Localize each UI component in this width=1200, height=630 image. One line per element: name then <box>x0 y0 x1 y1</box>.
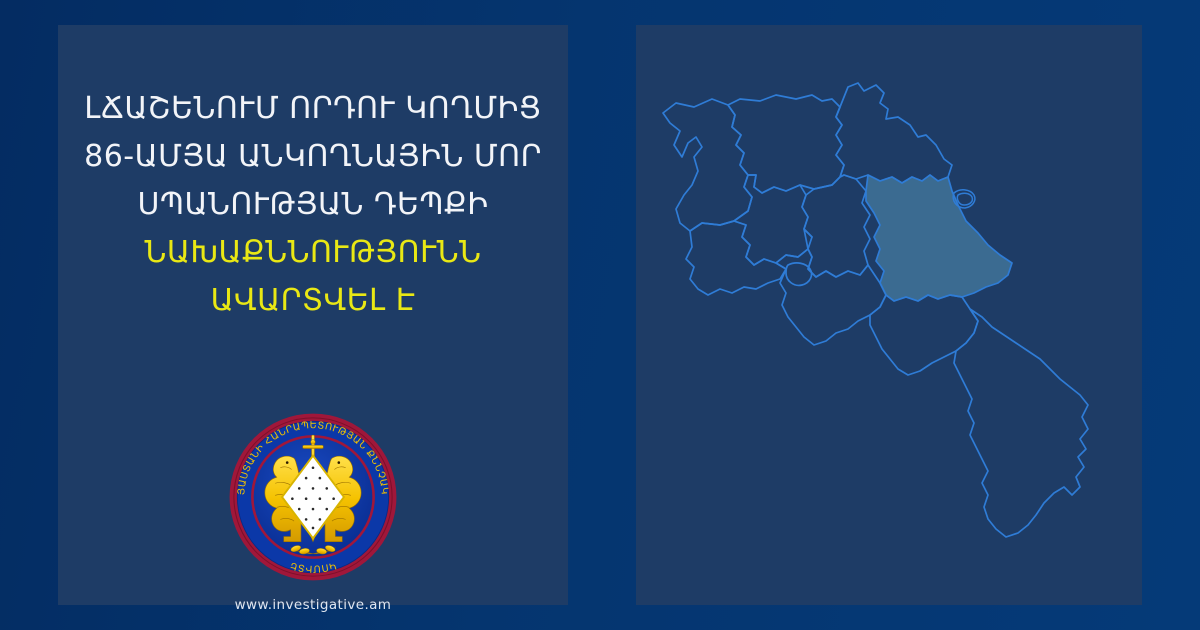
headline-block: ԼՃԱՇԵՆՈՒՄ ՈՐԴՈՒ ԿՈՂՄԻՑ 86-ԱՄՅԱ ԱՆԿՈՂՆԱՅԻ… <box>74 85 552 325</box>
map-region-tavush[interactable] <box>836 83 952 183</box>
map-region-yerevan[interactable] <box>786 263 812 285</box>
text-panel: ԼՃԱՇԵՆՈՒՄ ՈՐԴՈՒ ԿՈՂՄԻՑ 86-ԱՄՅԱ ԱՆԿՈՂՆԱՅԻ… <box>58 25 568 605</box>
map-panel <box>636 25 1142 605</box>
armenia-map[interactable] <box>636 25 1142 605</box>
map-lake-sevan <box>953 190 975 208</box>
map-region-vayots-dzor[interactable] <box>870 295 978 375</box>
map-region-gegharkunik[interactable] <box>866 175 1012 301</box>
map-region-armavir[interactable] <box>686 221 786 295</box>
headline-line-4: ՆԱԽԱՔՆՆՈՒԹՅՈՒՆՆ <box>74 229 552 277</box>
poster-canvas: ԼՃԱՇԵՆՈՒՄ ՈՐԴՈՒ ԿՈՂՄԻՑ 86-ԱՄՅԱ ԱՆԿՈՂՆԱՅԻ… <box>0 0 1200 630</box>
headline-line-3: ՍՊԱՆՈՒԹՅԱՆ ԴԵՊՔԻ <box>74 181 552 229</box>
headline-line-1: ԼՃԱՇԵՆՈՒՄ ՈՐԴՈՒ ԿՈՂՄԻՑ <box>74 85 552 133</box>
headline-line-2: 86-ԱՄՅԱ ԱՆԿՈՂՆԱՅԻՆ ՄՈՐ <box>74 133 552 181</box>
map-region-kotayk[interactable] <box>802 175 870 277</box>
investigative-committee-emblem: ՀԱՅԱՍՏԱՆԻ ՀԱՆՐԱՊԵՏՈՒԹՅԱՆ ՔՆՆՉԱԿԱՆ ԿՈՄԻՏԵ <box>227 411 399 583</box>
map-region-syunik[interactable] <box>954 309 1088 537</box>
map-region-lori[interactable] <box>728 95 844 193</box>
map-region-shirak[interactable] <box>663 99 752 231</box>
map-region-aragatsotn[interactable] <box>734 175 812 265</box>
headline-line-5: ԱՎԱՐՏՎԵԼ Է <box>74 277 552 325</box>
website-url[interactable]: www.investigative.am <box>58 597 568 613</box>
